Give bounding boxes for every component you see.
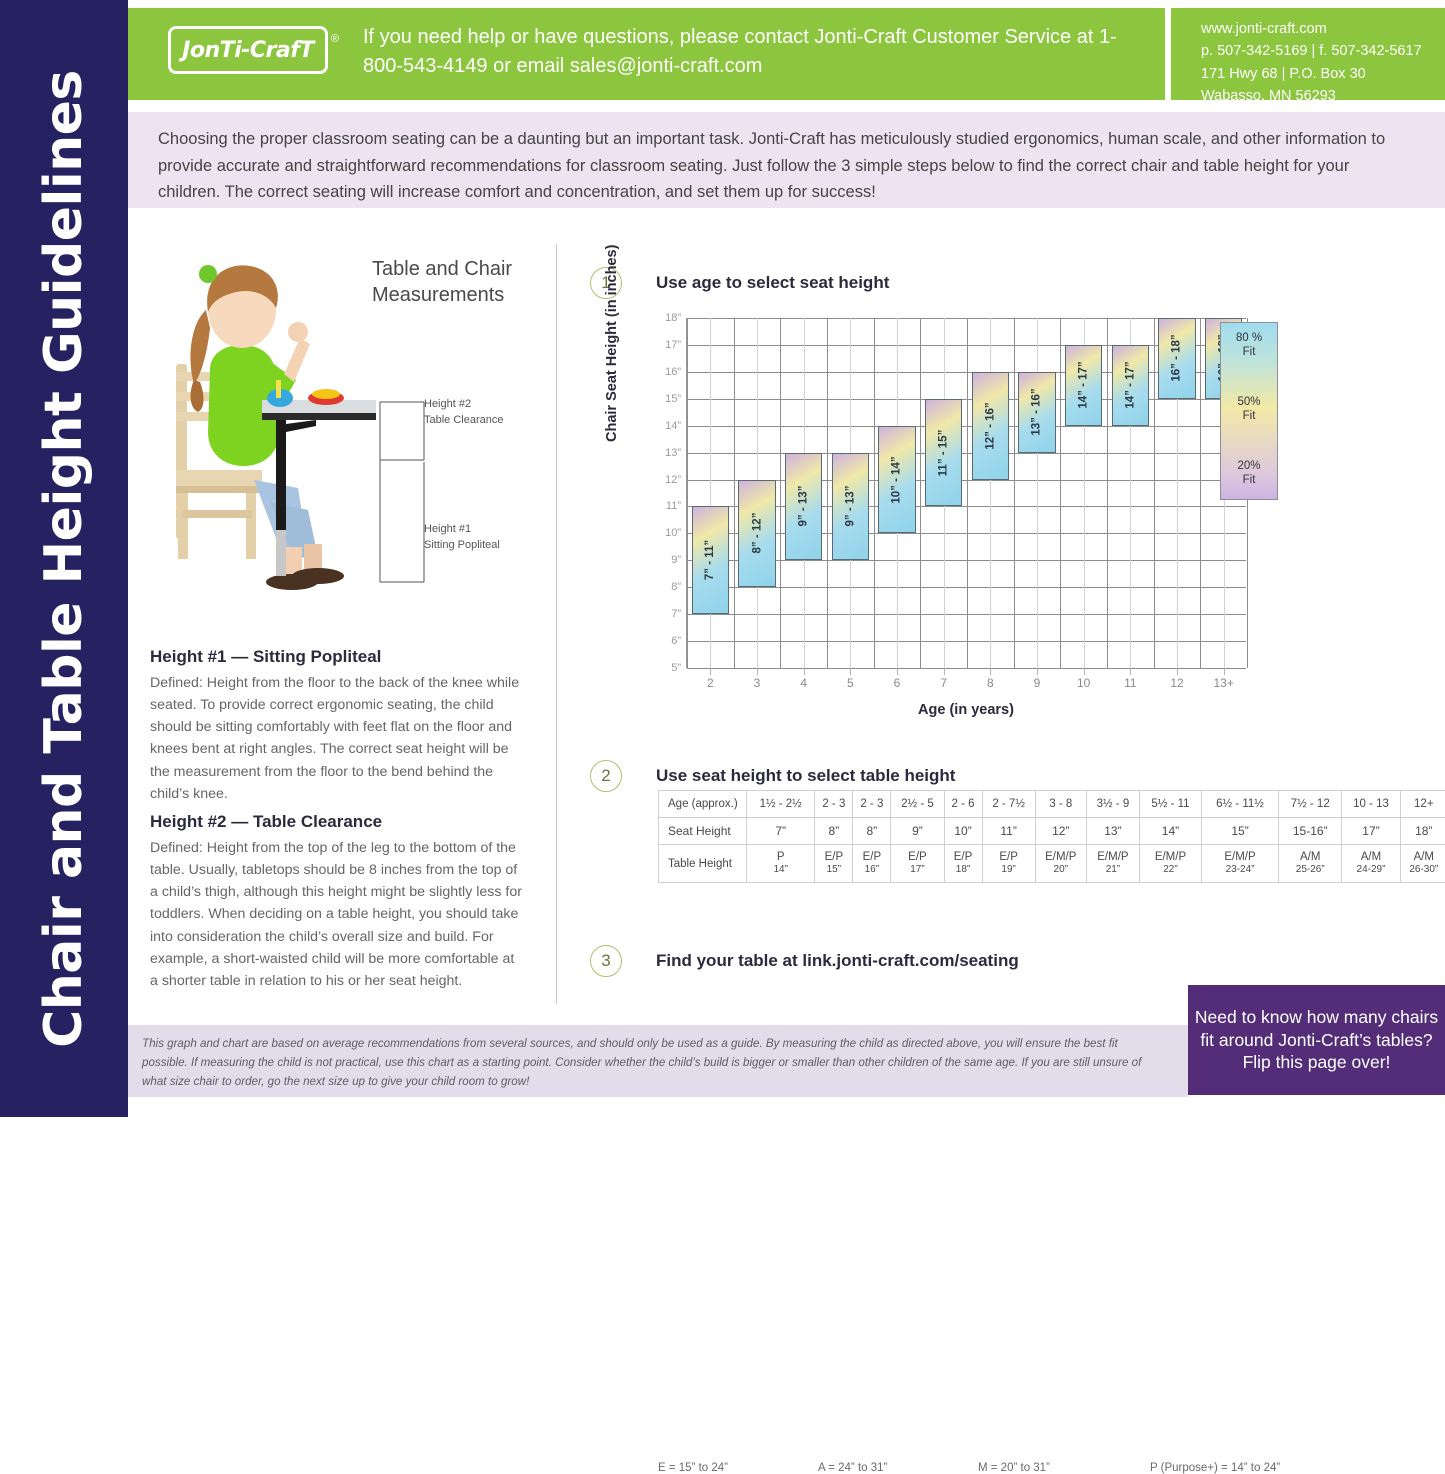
table-cell-bottom: 15”: [815, 864, 852, 876]
step-1: 1 Use age to select seat height: [590, 267, 889, 299]
chart-bar: 9” - 13”: [832, 453, 869, 561]
footer-disclaimer-panel: This graph and chart are based on averag…: [128, 1025, 1188, 1097]
table-cell: 3 - 8: [1035, 791, 1086, 818]
table-cell: 2 - 3: [853, 791, 891, 818]
table-cell-top: E/P: [815, 851, 852, 864]
table-cell: 14”: [1140, 818, 1202, 845]
table-cell: E/M/P20”: [1035, 845, 1086, 883]
table-cell: 3½ - 9: [1086, 791, 1139, 818]
table-cell: 2 - 3: [815, 791, 853, 818]
chart-gridline-vertical-minor: [1037, 318, 1038, 668]
step-2-number: 2: [590, 760, 622, 792]
chart-x-tick-label: 3: [754, 676, 761, 690]
table-cell-bottom: 17”: [891, 864, 943, 876]
main-content: Table and Chair Measurements: [128, 222, 1445, 1012]
table-cell: 13”: [1086, 818, 1139, 845]
seat-height-chart: Chair Seat Height (in inches) 5”6”7”8”9”…: [620, 310, 1440, 730]
height-1-section: Height #1 — Sitting Popliteal Defined: H…: [150, 647, 522, 805]
chart-bar-label: 7” - 11”: [704, 540, 716, 580]
chart-bar-label: 14” - 17”: [1124, 362, 1136, 409]
chart-y-tick-label: 16”: [665, 366, 681, 378]
logo: JonTi-CrafT ®: [168, 26, 328, 74]
intro-panel: Choosing the proper classroom seating ca…: [128, 112, 1445, 208]
chart-bar-label: 8” - 12”: [751, 513, 763, 554]
left-column: Table and Chair Measurements: [150, 222, 540, 1012]
chart-legend-unit: Fit: [1221, 473, 1277, 487]
page-title: Chair and Table Height Guidelines: [34, 70, 94, 1048]
table-cell-bottom: 20”: [1036, 864, 1086, 876]
chart-y-tick-label: 15”: [665, 393, 681, 405]
table-note: P (Purpose+) = 14” to 24”: [1150, 1462, 1280, 1474]
chart-x-axis-label: Age (in years): [686, 702, 1246, 718]
chart-gridline-vertical: [1107, 318, 1108, 668]
flip-page-callout: Need to know how many chairs fit around …: [1188, 985, 1445, 1095]
table-cell-bottom: 24-29”: [1342, 864, 1399, 876]
chart-x-tick-label: 8: [987, 676, 994, 690]
registered-trademark-icon: ®: [331, 33, 339, 45]
header-contact-panel: www.jonti-craft.com p. 507-342-5169 | f.…: [1171, 8, 1445, 100]
chart-plot-area: 5”6”7”8”9”10”11”12”13”14”15”16”17”18”234…: [686, 318, 1246, 668]
step-2-label: Use seat height to select table height: [656, 766, 955, 786]
table-cell: E/P18”: [944, 845, 982, 883]
chart-bar: 12” - 16”: [972, 372, 1009, 480]
child-seated-photo: [158, 252, 376, 597]
chart-gridline-vertical-minor: [710, 318, 711, 668]
chart-bar: 13” - 16”: [1018, 372, 1055, 453]
chart-x-tick-mark: [897, 668, 898, 675]
table-cell-bottom: 26-30”: [1401, 864, 1445, 876]
height-2-section: Height #2 — Table Clearance Defined: Hei…: [150, 812, 522, 992]
table-cell: 17”: [1342, 818, 1400, 845]
table-cell: 12+: [1400, 791, 1445, 818]
table-cell-bottom: 22”: [1140, 864, 1201, 876]
chart-x-tick-mark: [757, 668, 758, 675]
chart-y-axis-label: Chair Seat Height (in inches): [604, 245, 620, 442]
table-cell: A/M25-26”: [1279, 845, 1342, 883]
footer-disclaimer-text: This graph and chart are based on averag…: [142, 1035, 1166, 1091]
chart-gridline-vertical-minor: [990, 318, 991, 668]
table-cell: E/M/P22”: [1140, 845, 1202, 883]
chart-gridline-vertical: [687, 318, 688, 668]
chart-y-tick-label: 10”: [665, 527, 681, 539]
height-1-title: Height #1 — Sitting Popliteal: [150, 647, 522, 667]
contact-address-line1: 171 Hwy 68 | P.O. Box 30: [1201, 63, 1445, 85]
chart-gridline-vertical: [1200, 318, 1201, 668]
chart-bar-label: 14” - 17”: [1078, 362, 1090, 409]
table-row: Table HeightP14”E/P15”E/P16”E/P17”E/P18”…: [659, 845, 1445, 883]
chart-gridline-horizontal: [687, 668, 1246, 669]
table-cell: 15-16”: [1279, 818, 1342, 845]
contact-phone-fax: p. 507-342-5169 | f. 507-342-5617: [1201, 40, 1445, 62]
chart-legend-entry: 20%Fit: [1221, 459, 1277, 488]
table-cell: 12”: [1035, 818, 1086, 845]
chart-x-tick-mark: [850, 668, 851, 675]
chart-bar: 14” - 17”: [1112, 345, 1149, 426]
chart-bar: 8” - 12”: [738, 480, 775, 588]
contact-address-line2: Wabasso, MN 56293: [1201, 85, 1445, 107]
table-cell-top: E/M/P: [1140, 851, 1201, 864]
chart-gridline-vertical: [967, 318, 968, 668]
chart-legend-entry: 80 %Fit: [1221, 331, 1277, 360]
table-cell-bottom: 23-24”: [1202, 864, 1278, 876]
measurements-heading: Table and Chair Measurements: [372, 256, 540, 308]
chart-gridline-vertical: [780, 318, 781, 668]
table-cell: A/M24-29”: [1342, 845, 1400, 883]
sidebar: Chair and Table Height Guidelines: [0, 0, 128, 1117]
logo-text: JonTi-CrafT: [182, 38, 314, 63]
intro-text: Choosing the proper classroom seating ca…: [158, 126, 1415, 206]
chart-x-tick-mark: [1130, 668, 1131, 675]
chart-bar-label: 13” - 16”: [1031, 389, 1043, 436]
table-cell: E/P17”: [891, 845, 944, 883]
table-cell: E/M/P23-24”: [1201, 845, 1278, 883]
chart-gridline-vertical: [874, 318, 875, 668]
chart-x-tick-label: 9: [1034, 676, 1041, 690]
table-row: Age (approx.)1½ - 2½2 - 32 - 32½ - 52 - …: [659, 791, 1445, 818]
step-3-label[interactable]: Find your table at link.jonti-craft.com/…: [656, 951, 1019, 971]
chart-legend-unit: Fit: [1221, 409, 1277, 423]
chart-gridline-vertical: [734, 318, 735, 668]
table-cell: P14”: [747, 845, 815, 883]
table-cell-top: E/P: [945, 851, 982, 864]
chart-x-tick-mark: [944, 668, 945, 675]
callout-height-1: Height #1 Sitting Popliteal: [424, 522, 500, 554]
table-cell-top: A/M: [1342, 851, 1399, 864]
chart-x-tick-mark: [1037, 668, 1038, 675]
callout-height-2-line2: Table Clearance: [424, 413, 504, 429]
chart-bar: 14” - 17”: [1065, 345, 1102, 426]
chart-bar: 11” - 15”: [925, 399, 962, 507]
chart-y-tick-label: 18”: [665, 312, 681, 324]
contact-website[interactable]: www.jonti-craft.com: [1201, 18, 1445, 40]
table-cell: 18”: [1400, 818, 1445, 845]
chart-y-tick-label: 8”: [671, 581, 681, 593]
height-2-title: Height #2 — Table Clearance: [150, 812, 522, 832]
table-row-header: Seat Height: [659, 818, 747, 845]
table-cell-top: E/P: [891, 851, 943, 864]
measurement-bracket: [378, 400, 428, 585]
table-cell: 7”: [747, 818, 815, 845]
chart-x-tick-mark: [710, 668, 711, 675]
chart-bar-label: 11” - 15”: [938, 429, 950, 476]
step-2: 2 Use seat height to select table height: [590, 760, 955, 792]
chart-y-tick-label: 6”: [671, 635, 681, 647]
chart-gridline-vertical: [827, 318, 828, 668]
table-cell-bottom: 25-26”: [1279, 864, 1341, 876]
table-cell: 8”: [815, 818, 853, 845]
callout-height-1-line2: Sitting Popliteal: [424, 538, 500, 554]
table-cell-top: A/M: [1279, 851, 1341, 864]
seat-table-height-table: Age (approx.)1½ - 2½2 - 32 - 32½ - 52 - …: [658, 790, 1445, 883]
chart-y-tick-label: 11”: [666, 500, 681, 512]
chart-x-tick-label: 2: [707, 676, 714, 690]
table-row: Seat Height7”8”8”9”10”11”12”13”14”15”15-…: [659, 818, 1445, 845]
table-cell: E/P19”: [982, 845, 1035, 883]
step-3: 3 Find your table at link.jonti-craft.co…: [590, 945, 1019, 977]
table-cell: 2 - 7½: [982, 791, 1035, 818]
table-note: A = 24” to 31”: [818, 1462, 978, 1474]
table-note: E = 15” to 24”: [658, 1462, 818, 1474]
chart-y-tick-label: 5”: [671, 662, 681, 674]
header: JonTi-CrafT ® If you need help or have q…: [128, 0, 1445, 104]
table-cell: E/P16”: [853, 845, 891, 883]
table-note: M = 20” to 31”: [978, 1462, 1150, 1474]
chart-x-tick-label: 13+: [1213, 676, 1233, 690]
callout-height-2-line1: Height #2: [424, 397, 504, 413]
chart-bar: 7” - 11”: [692, 506, 729, 614]
table-cell: A/M26-30”: [1400, 845, 1445, 883]
chart-x-tick-label: 7: [940, 676, 947, 690]
chart-x-tick-label: 11: [1124, 676, 1136, 690]
chart-bar-label: 9” - 13”: [844, 486, 856, 527]
table-cell-top: E/M/P: [1087, 851, 1139, 864]
callout-height-1-line1: Height #1: [424, 522, 500, 538]
chart-x-tick-mark: [804, 668, 805, 675]
chart-bar: 9” - 13”: [785, 453, 822, 561]
table-cell: 15”: [1201, 818, 1278, 845]
table-cell: 2 - 6: [944, 791, 982, 818]
chart-y-tick-label: 7”: [671, 608, 681, 620]
chart-y-tick-label: 14”: [665, 420, 681, 432]
chart-y-tick-label: 9”: [671, 554, 681, 566]
callout-height-2: Height #2 Table Clearance: [424, 397, 504, 429]
table-notes: E = 15” to 24”A = 24” to 31”M = 20” to 3…: [658, 1462, 1445, 1474]
table-cell-top: E/M/P: [1202, 851, 1278, 864]
chart-y-tick-label: 13”: [665, 447, 681, 459]
chart-legend-value: 50%: [1221, 395, 1277, 409]
chart-bar-label: 12” - 16”: [984, 402, 996, 449]
chart-legend: 80 %Fit50%Fit20%Fit: [1220, 322, 1278, 500]
chart-bar: 16” - 18”: [1158, 318, 1195, 399]
height-2-body: Defined: Height from the top of the leg …: [150, 837, 522, 992]
photo-area: Table and Chair Measurements: [150, 232, 540, 602]
chart-x-tick-mark: [1224, 668, 1225, 675]
header-contact-message: If you need help or have questions, plea…: [363, 23, 1143, 81]
table-cell-top: P: [747, 851, 814, 864]
table-cell: E/M/P21”: [1086, 845, 1139, 883]
table-cell: 9”: [891, 818, 944, 845]
seat-table-height-table-wrap: Age (approx.)1½ - 2½2 - 32 - 32½ - 52 - …: [658, 790, 1445, 883]
chart-x-tick-mark: [1084, 668, 1085, 675]
table-row-header: Age (approx.): [659, 791, 747, 818]
chart-y-tick-label: 12”: [665, 474, 681, 486]
chart-x-tick-mark: [1177, 668, 1178, 675]
chart-gridline-vertical: [1014, 318, 1015, 668]
table-cell: 6½ - 11½: [1201, 791, 1278, 818]
chart-bar: 10” - 14”: [878, 426, 915, 534]
table-cell: 11”: [982, 818, 1035, 845]
chart-x-tick-label: 4: [800, 676, 807, 690]
chart-x-tick-label: 6: [894, 676, 901, 690]
chart-x-tick-label: 10: [1077, 676, 1090, 690]
chart-bar-label: 9” - 13”: [798, 486, 810, 527]
table-cell-bottom: 14”: [747, 864, 814, 876]
step-1-label: Use age to select seat height: [656, 273, 889, 293]
table-row-header: Table Height: [659, 845, 747, 883]
column-divider: [556, 244, 557, 1004]
table-cell-bottom: 16”: [853, 864, 890, 876]
right-column: 1 Use age to select seat height Chair Se…: [590, 222, 1445, 1012]
flip-page-callout-text: Need to know how many chairs fit around …: [1188, 1006, 1445, 1074]
chart-gridline-vertical: [1154, 318, 1155, 668]
chart-legend-value: 80 %: [1221, 331, 1277, 345]
chart-legend-value: 20%: [1221, 459, 1277, 473]
chart-x-tick-mark: [990, 668, 991, 675]
chart-legend-entry: 50%Fit: [1221, 395, 1277, 424]
table-cell: E/P15”: [815, 845, 853, 883]
table-cell-bottom: 21”: [1087, 864, 1139, 876]
header-main-banner: JonTi-CrafT ® If you need help or have q…: [128, 8, 1165, 100]
table-cell-bottom: 19”: [983, 864, 1035, 876]
table-cell: 5½ - 11: [1140, 791, 1202, 818]
table-cell: 2½ - 5: [891, 791, 944, 818]
chart-bar-label: 10” - 14”: [891, 456, 903, 503]
table-cell-top: E/P: [853, 851, 890, 864]
chart-bar-label: 16” - 18”: [1171, 335, 1183, 382]
table-cell-top: E/M/P: [1036, 851, 1086, 864]
table-cell-top: A/M: [1401, 851, 1445, 864]
table-cell-top: E/P: [983, 851, 1035, 864]
table-cell: 10 - 13: [1342, 791, 1400, 818]
height-1-body: Defined: Height from the floor to the ba…: [150, 672, 522, 805]
chart-x-tick-label: 12: [1170, 676, 1183, 690]
table-cell-bottom: 18”: [945, 864, 982, 876]
chart-gridline-vertical: [920, 318, 921, 668]
table-cell: 7½ - 12: [1279, 791, 1342, 818]
table-cell: 10”: [944, 818, 982, 845]
step-3-number: 3: [590, 945, 622, 977]
table-cell: 1½ - 2½: [747, 791, 815, 818]
chart-legend-unit: Fit: [1221, 345, 1277, 359]
chart-y-tick-label: 17”: [665, 339, 681, 351]
table-cell: 8”: [853, 818, 891, 845]
chart-x-tick-label: 5: [847, 676, 854, 690]
chart-gridline-vertical: [1060, 318, 1061, 668]
